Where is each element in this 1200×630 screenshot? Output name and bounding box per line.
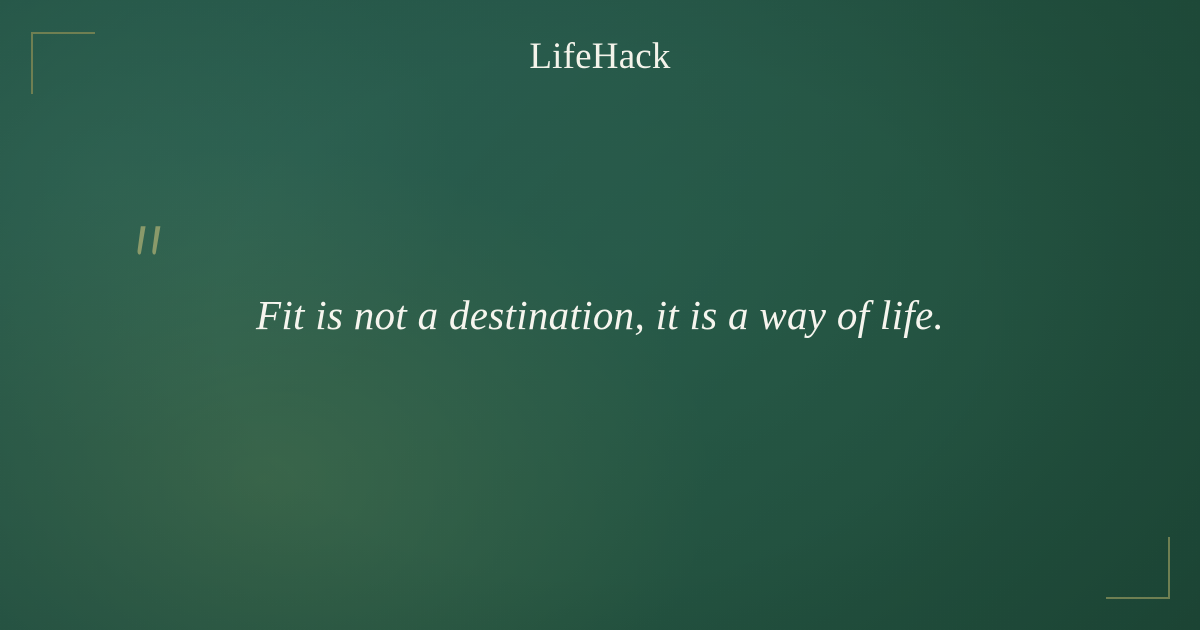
brand-logo: LifeHack xyxy=(0,38,1200,75)
quote-card: LifeHack Fit is not a destination, it is… xyxy=(0,0,1200,630)
quote-text: Fit is not a destination, it is a way of… xyxy=(256,289,944,341)
quote-container: Fit is not a destination, it is a way of… xyxy=(0,289,1200,341)
corner-bracket-bottom-right-icon xyxy=(1106,537,1170,599)
quote-mark-icon xyxy=(130,222,176,268)
